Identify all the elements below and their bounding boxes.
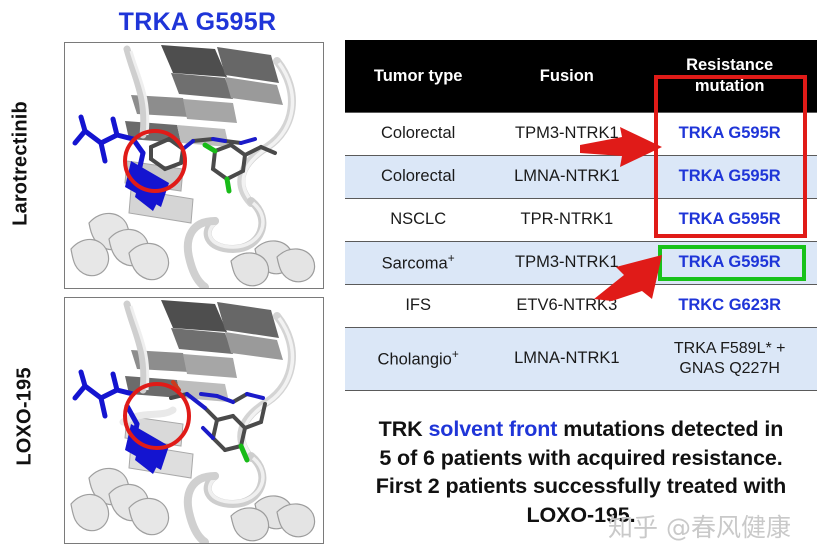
column-header-resistance-mutation-line1: Resistance — [686, 56, 773, 74]
resistance-data-panel: Tumor type Fusion Resistance mutation Co… — [340, 0, 823, 554]
cell-fusion: LMNA-NTRK1 — [491, 156, 642, 199]
structure-image-larotrectinib — [64, 42, 324, 289]
cell-tumor-type: Colorectal — [345, 113, 491, 156]
cell-fusion: TPM3-NTRK1 — [491, 113, 642, 156]
footnote-marker: + — [448, 251, 455, 265]
cell-mutation: TRKA G595R — [642, 242, 817, 285]
table-header: Tumor type Fusion Resistance mutation — [345, 40, 817, 113]
column-header-resistance-mutation-line2: mutation — [695, 77, 765, 95]
column-header-tumor-type: Tumor type — [345, 40, 491, 113]
drug-label-larotrectinib: Larotrectinib — [10, 99, 33, 229]
cell-fusion: LMNA-NTRK1 — [491, 328, 642, 391]
column-header-resistance-mutation: Resistance mutation — [642, 40, 817, 113]
drug-label-loxo-195: LOXO-195 — [14, 352, 37, 482]
cell-mutation: TRKA F589L* + GNAS Q227H — [642, 328, 817, 391]
cell-mutation-line2: GNAS Q227H — [679, 360, 779, 377]
cell-tumor-type: Sarcoma+ — [345, 242, 491, 285]
table-row: Colorectal TPM3-NTRK1 TRKA G595R — [345, 113, 817, 156]
table-row: IFS ETV6-NTRK3 TRKC G623R — [345, 285, 817, 328]
cell-fusion: ETV6-NTRK3 — [491, 285, 642, 328]
structure-image-loxo-195 — [64, 297, 324, 544]
summary-line3: First 2 patients successfully treated wi… — [376, 474, 786, 498]
cell-mutation-line1: TRKA F589L* + — [674, 340, 786, 357]
cell-tumor-type: NSCLC — [345, 199, 491, 242]
table-body: Colorectal TPM3-NTRK1 TRKA G595R Colorec… — [345, 113, 817, 391]
cell-mutation: TRKA G595R — [642, 113, 817, 156]
cell-mutation: TRKC G623R — [642, 285, 817, 328]
cell-fusion: TPR-NTRK1 — [491, 199, 642, 242]
cell-tumor-type: IFS — [345, 285, 491, 328]
cell-mutation: TRKA G595R — [642, 199, 817, 242]
table-header-row: Tumor type Fusion Resistance mutation — [345, 40, 817, 113]
protein-structure-panel: TRKA G595R Larotrectinib LOXO-195 — [0, 0, 340, 554]
table-row: Sarcoma+ TPM3-NTRK1 TRKA G595R — [345, 242, 817, 285]
ribbon-diagram-larotrectinib — [65, 43, 323, 288]
resistance-mutation-table: Tumor type Fusion Resistance mutation Co… — [345, 40, 817, 391]
table-row: NSCLC TPR-NTRK1 TRKA G595R — [345, 199, 817, 242]
column-header-fusion: Fusion — [491, 40, 642, 113]
cell-fusion: TPM3-NTRK1 — [491, 242, 642, 285]
summary-line1-accent: solvent front — [428, 417, 557, 441]
summary-line4: LOXO-195. — [526, 503, 635, 527]
table-row: Cholangio+ LMNA-NTRK1 TRKA F589L* + GNAS… — [345, 328, 817, 391]
ribbon-diagram-loxo-195 — [65, 298, 323, 543]
summary-text: TRK solvent front mutations detected in … — [345, 415, 817, 529]
table-row: Colorectal LMNA-NTRK1 TRKA G595R — [345, 156, 817, 199]
cell-tumor-type: Colorectal — [345, 156, 491, 199]
summary-line2: 5 of 6 patients with acquired resistance… — [379, 446, 782, 470]
summary-line1-pre: TRK — [379, 417, 429, 441]
page-title: TRKA G595R — [60, 8, 335, 37]
summary-line1-post: mutations detected in — [557, 417, 783, 441]
cell-tumor-type: Cholangio+ — [345, 328, 491, 391]
cell-mutation: TRKA G595R — [642, 156, 817, 199]
footnote-marker: + — [452, 347, 459, 361]
